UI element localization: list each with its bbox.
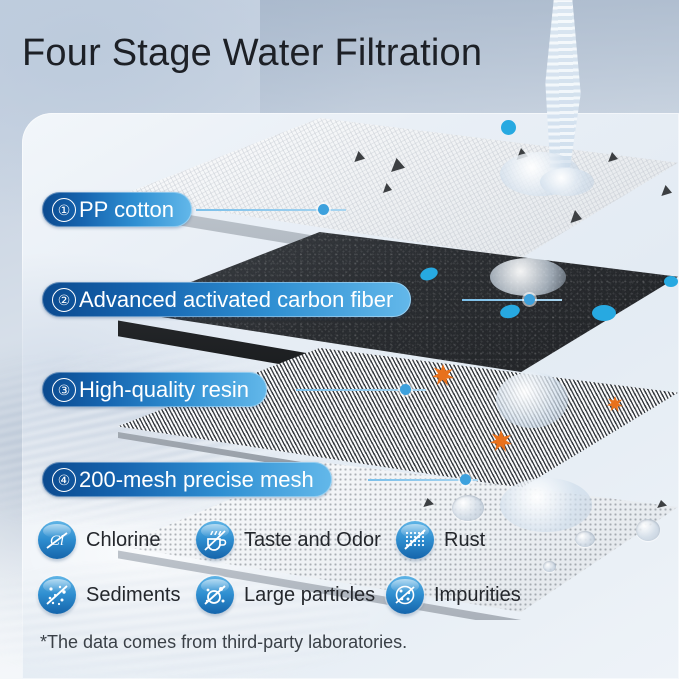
leader-line-2 xyxy=(462,299,562,301)
stage-label-2[interactable]: ② Advanced activated carbon fiber xyxy=(42,282,411,317)
stage-label-text-1: PP cotton xyxy=(79,197,174,223)
icon-gloss xyxy=(401,524,429,538)
feature-sediments[interactable]: Sediments xyxy=(38,576,181,614)
icon-gloss xyxy=(43,524,71,538)
large-particles-icon xyxy=(196,576,234,614)
feature-label: Impurities xyxy=(434,584,521,607)
feature-label: Taste and Odor xyxy=(244,529,381,552)
infographic-canvas: Four Stage Water Filtration xyxy=(0,0,679,679)
feature-label: Rust xyxy=(444,529,485,552)
feature-impurities[interactable]: Impurities xyxy=(386,576,521,614)
stage-label-3[interactable]: ③ High-quality resin xyxy=(42,372,267,407)
water-splash xyxy=(540,168,594,196)
stage-label-4[interactable]: ④ 200-mesh precise mesh xyxy=(42,462,332,497)
leader-dot-1 xyxy=(318,204,329,215)
water-splash xyxy=(490,258,566,296)
leader-dot-4 xyxy=(460,474,471,485)
stage-number-3: ③ xyxy=(52,378,76,402)
feature-label: Sediments xyxy=(86,584,181,607)
feature-rust[interactable]: Rust xyxy=(396,521,485,559)
impurities-icon xyxy=(386,576,424,614)
feature-taste-and-odor[interactable]: Taste and Odor xyxy=(196,521,381,559)
chlorine-icon: Cl xyxy=(38,521,76,559)
stage-label-1[interactable]: ① PP cotton xyxy=(42,192,192,227)
stage-label-text-2: Advanced activated carbon fiber xyxy=(79,287,393,313)
stage-number-2: ② xyxy=(52,288,76,312)
taste-odor-icon xyxy=(196,521,234,559)
stage-label-text-4: 200-mesh precise mesh xyxy=(79,467,314,493)
leader-dot-3 xyxy=(400,384,411,395)
sediments-icon xyxy=(38,576,76,614)
icon-gloss xyxy=(43,579,71,593)
water-splash xyxy=(496,372,568,428)
rust-icon xyxy=(396,521,434,559)
stage-number-1: ① xyxy=(52,198,76,222)
footnote: *The data comes from third-party laborat… xyxy=(40,632,407,653)
page-title: Four Stage Water Filtration xyxy=(22,33,482,75)
feature-label: Large particles xyxy=(244,584,375,607)
feature-chlorine[interactable]: Cl Chlorine xyxy=(38,521,160,559)
feature-large-particles[interactable]: Large particles xyxy=(196,576,375,614)
feature-label: Chlorine xyxy=(86,529,160,552)
icon-gloss xyxy=(201,579,229,593)
icon-gloss xyxy=(391,579,419,593)
stage-label-text-3: High-quality resin xyxy=(79,377,249,403)
icon-gloss xyxy=(201,524,229,538)
leader-dot-2 xyxy=(524,294,535,305)
water-splash xyxy=(500,478,592,532)
stage-number-4: ④ xyxy=(52,468,76,492)
